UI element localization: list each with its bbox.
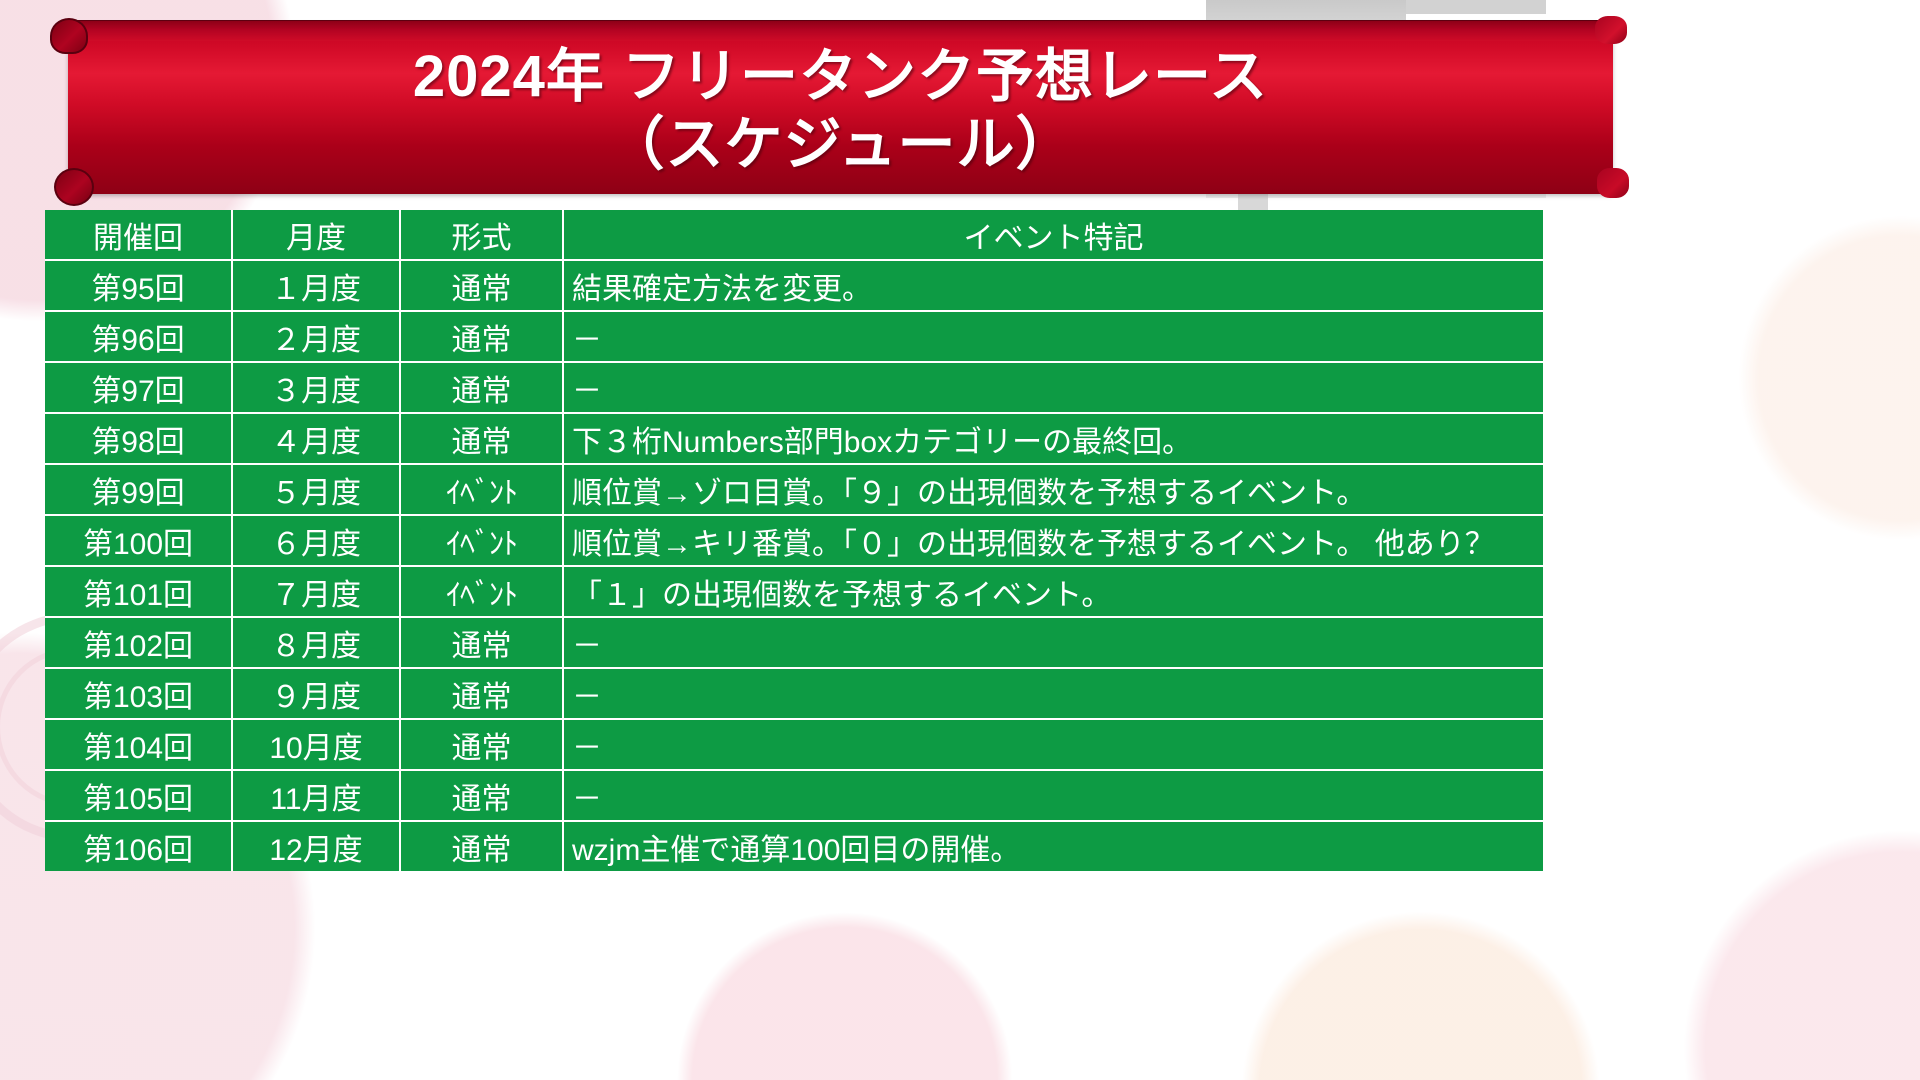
- cell-month: ６月度: [233, 516, 401, 567]
- table-body: 第95回１月度通常結果確定方法を変更。第96回２月度通常－第97回３月度通常－第…: [45, 261, 1543, 871]
- cell-note: 順位賞→キリ番賞。「０」の出現個数を予想するイベント。 他あり？: [564, 516, 1543, 567]
- cell-kai: 第106回: [45, 822, 233, 871]
- page-title: 2024年 フリータンク予想レース （スケジュール）: [68, 28, 1613, 194]
- table-row: 第97回３月度通常－: [45, 363, 1543, 414]
- slide-canvas: 2024年 フリータンク予想レース （スケジュール） 開催回 月度 形式 イベン…: [0, 0, 1920, 1080]
- column-header-kai: 開催回: [45, 210, 233, 261]
- cell-kai: 第105回: [45, 771, 233, 822]
- schedule-table: 開催回 月度 形式 イベント特記 第95回１月度通常結果確定方法を変更。第96回…: [45, 210, 1543, 871]
- table-row: 第98回４月度通常下３桁Numbers部門boxカテゴリーの最終回。: [45, 414, 1543, 465]
- table-row: 第102回８月度通常－: [45, 618, 1543, 669]
- cell-kai: 第103回: [45, 669, 233, 720]
- cell-month: ９月度: [233, 669, 401, 720]
- cell-kai: 第100回: [45, 516, 233, 567]
- cell-form: ｲﾍﾞﾝﾄ: [401, 516, 564, 567]
- cell-note: －: [564, 618, 1543, 669]
- cell-month: 11月度: [233, 771, 401, 822]
- cell-note: 順位賞→ゾロ目賞。「９」の出現個数を予想するイベント。: [564, 465, 1543, 516]
- cell-note: －: [564, 669, 1543, 720]
- cell-kai: 第95回: [45, 261, 233, 312]
- cell-note: 下３桁Numbers部門boxカテゴリーの最終回。: [564, 414, 1543, 465]
- cell-kai: 第98回: [45, 414, 233, 465]
- cell-form: 通常: [401, 312, 564, 363]
- cell-month: ４月度: [233, 414, 401, 465]
- cell-form: 通常: [401, 669, 564, 720]
- cell-month: 12月度: [233, 822, 401, 871]
- cell-form: 通常: [401, 414, 564, 465]
- cell-month: ２月度: [233, 312, 401, 363]
- table-row: 第104回10月度通常－: [45, 720, 1543, 771]
- cell-note: 「１」の出現個数を予想するイベント。: [564, 567, 1543, 618]
- cell-form: ｲﾍﾞﾝﾄ: [401, 567, 564, 618]
- table-row: 第100回６月度ｲﾍﾞﾝﾄ順位賞→キリ番賞。「０」の出現個数を予想するイベント。…: [45, 516, 1543, 567]
- cell-form: 通常: [401, 618, 564, 669]
- cell-kai: 第97回: [45, 363, 233, 414]
- table-header-row: 開催回 月度 形式 イベント特記: [45, 210, 1543, 261]
- cell-form: 通常: [401, 261, 564, 312]
- cell-month: ５月度: [233, 465, 401, 516]
- cell-note: －: [564, 771, 1543, 822]
- cell-note: －: [564, 312, 1543, 363]
- cell-form: 通常: [401, 822, 564, 871]
- cell-kai: 第104回: [45, 720, 233, 771]
- table-row: 第101回７月度ｲﾍﾞﾝﾄ「１」の出現個数を予想するイベント。: [45, 567, 1543, 618]
- cell-month: ３月度: [233, 363, 401, 414]
- cell-kai: 第99回: [45, 465, 233, 516]
- cell-kai: 第96回: [45, 312, 233, 363]
- column-header-note: イベント特記: [564, 210, 1543, 261]
- cell-form: ｲﾍﾞﾝﾄ: [401, 465, 564, 516]
- page-title-line2: （スケジュール）: [607, 111, 1075, 179]
- table-row: 第105回11月度通常－: [45, 771, 1543, 822]
- title-ribbon: 2024年 フリータンク予想レース （スケジュール）: [48, 8, 1623, 200]
- cell-note: －: [564, 720, 1543, 771]
- cell-month: 10月度: [233, 720, 401, 771]
- cell-form: 通常: [401, 771, 564, 822]
- cell-note: wzjm主催で通算100回目の開催。: [564, 822, 1543, 871]
- table-row: 第106回12月度通常wzjm主催で通算100回目の開催。: [45, 822, 1543, 871]
- cell-kai: 第102回: [45, 618, 233, 669]
- column-header-form: 形式: [401, 210, 564, 261]
- cell-month: １月度: [233, 261, 401, 312]
- cell-note: －: [564, 363, 1543, 414]
- column-header-month: 月度: [233, 210, 401, 261]
- cell-month: ７月度: [233, 567, 401, 618]
- cell-form: 通常: [401, 363, 564, 414]
- cell-kai: 第101回: [45, 567, 233, 618]
- cell-note: 結果確定方法を変更。: [564, 261, 1543, 312]
- page-title-line1: 2024年 フリータンク予想レース: [413, 43, 1268, 111]
- cell-month: ８月度: [233, 618, 401, 669]
- cell-form: 通常: [401, 720, 564, 771]
- table-row: 第103回９月度通常－: [45, 669, 1543, 720]
- table-header: 開催回 月度 形式 イベント特記: [45, 210, 1543, 261]
- table-row: 第95回１月度通常結果確定方法を変更。: [45, 261, 1543, 312]
- table-row: 第96回２月度通常－: [45, 312, 1543, 363]
- table-row: 第99回５月度ｲﾍﾞﾝﾄ順位賞→ゾロ目賞。「９」の出現個数を予想するイベント。: [45, 465, 1543, 516]
